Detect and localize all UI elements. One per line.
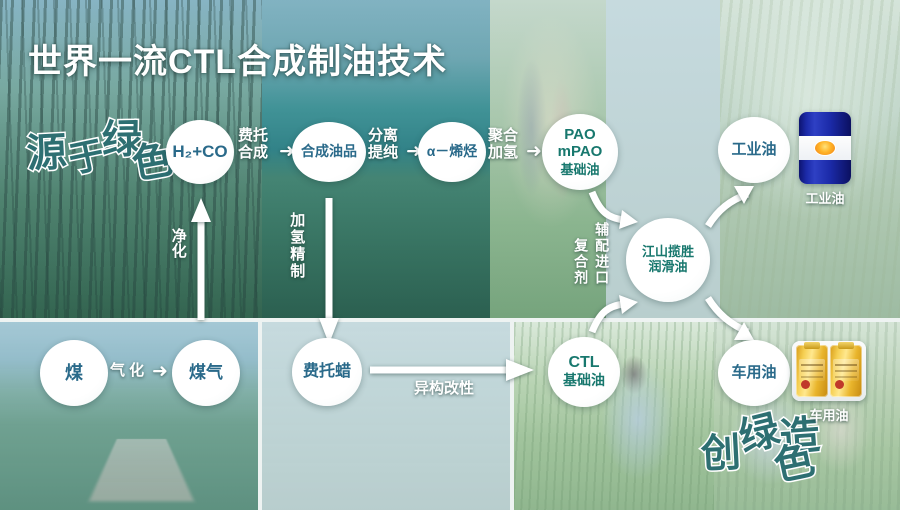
node-line: PAO bbox=[564, 126, 595, 143]
label-separation: 分离 提纯 bbox=[368, 127, 398, 162]
node-ft-wax[interactable]: 费托蜡 bbox=[292, 338, 362, 406]
bottle-left bbox=[796, 345, 828, 397]
product-industrial-oil[interactable]: 工业油 bbox=[799, 112, 851, 207]
arrow-isomerization bbox=[368, 360, 536, 380]
node-coal-gas[interactable]: 煤气 bbox=[172, 340, 240, 406]
node-line: 基础油 bbox=[560, 162, 599, 177]
node-vehicle-oil[interactable]: 车用油 bbox=[718, 340, 790, 406]
label-compound-agent: 复合剂 bbox=[573, 238, 589, 286]
node-line: CTL bbox=[568, 354, 599, 371]
arrow-hydrofining-down bbox=[320, 196, 338, 346]
label-gasification: 气 化 bbox=[110, 362, 144, 379]
label-line: 聚合 bbox=[488, 127, 518, 144]
node-line: 江山揽胜 bbox=[642, 244, 694, 259]
node-coal[interactable]: 煤 bbox=[40, 340, 108, 406]
page-title: 世界一流CTL合成制油技术 bbox=[28, 34, 447, 83]
node-ctl-base-oil[interactable]: CTL 基础油 bbox=[548, 337, 620, 407]
arrow-polymerization-icon: ➜ bbox=[526, 140, 542, 163]
callig-char: 创 bbox=[699, 420, 742, 480]
sun-logo-icon bbox=[815, 141, 835, 155]
infographic-canvas: 世界一流CTL合成制油技术 源于绿色 创绿造色 H₂+CO 费托 合成 ➜ 合成… bbox=[0, 0, 900, 510]
product-vehicle-oil[interactable]: 车用油 bbox=[792, 341, 866, 424]
label-hydrofining: 加氢精制 bbox=[288, 212, 305, 280]
arrow-gasification-icon: ➜ bbox=[152, 360, 168, 383]
photo-veil bbox=[514, 322, 714, 510]
arrow-pao-to-hub bbox=[586, 186, 642, 234]
label-line: 加氢 bbox=[488, 144, 518, 161]
label-line: 费托 bbox=[238, 127, 268, 144]
oil-drum-icon bbox=[799, 112, 851, 184]
label-ft-synthesis: 费托 合成 bbox=[238, 127, 268, 162]
arrow-purification-up bbox=[192, 196, 210, 322]
node-industrial-oil[interactable]: 工业油 bbox=[718, 117, 790, 183]
node-line: mPAO bbox=[558, 143, 603, 160]
node-line: 润滑油 bbox=[648, 259, 687, 274]
arrow-ctl-to-hub bbox=[586, 290, 642, 338]
product-caption: 车用油 bbox=[792, 405, 866, 424]
node-alpha-olefin[interactable]: α－烯烃 bbox=[418, 122, 486, 182]
bottle-right bbox=[830, 345, 862, 397]
oil-bottles-icon bbox=[792, 341, 866, 401]
node-synth-oil[interactable]: 合成油品 bbox=[292, 122, 366, 182]
node-pao-base-oil[interactable]: PAO mPAO 基础油 bbox=[542, 114, 618, 190]
arrow-hub-to-industrial bbox=[700, 182, 758, 232]
node-line: 基础油 bbox=[563, 372, 605, 388]
label-line: 分离 bbox=[368, 127, 398, 144]
label-polymerization: 聚合 加氢 bbox=[488, 127, 518, 162]
label-line: 提纯 bbox=[368, 144, 398, 161]
label-purification: 净化 bbox=[168, 228, 187, 258]
label-isomerization: 异构改性 bbox=[414, 380, 474, 397]
callig-char: 源 bbox=[25, 119, 68, 179]
label-line: 合成 bbox=[238, 144, 268, 161]
photo-tile-boy-grass bbox=[514, 322, 714, 510]
product-caption: 工业油 bbox=[799, 188, 851, 207]
arrow-hub-to-vehicle bbox=[700, 292, 758, 344]
node-h2co[interactable]: H₂+CO bbox=[166, 120, 234, 184]
